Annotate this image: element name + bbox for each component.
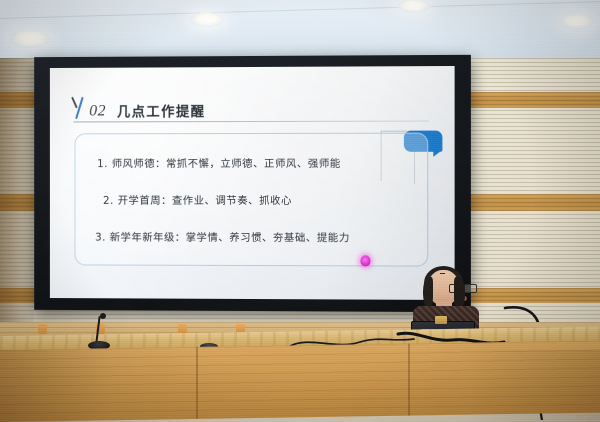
stage-riser-block	[38, 324, 47, 334]
slide-bullet-1: 1. 师风师德：常抓不懈，立师德、正师风、强师能	[75, 155, 449, 170]
slide-bullet-2: 2. 开学首周：查作业、调节奏、抓收心	[75, 192, 454, 207]
slide-bullet-3: 3. 新学年新年级：掌学情、养习惯、夯基础、提能力	[75, 229, 447, 245]
ceiling-seam	[0, 1, 600, 19]
slide-section-number: 02	[89, 103, 106, 119]
ceiling-downlight-icon	[560, 14, 594, 29]
slide-title-row: 02 几点工作提醒	[72, 92, 432, 119]
slash-accent-icon	[72, 96, 87, 120]
glasses-bridge	[440, 273, 445, 274]
projection-screen-surface: 02 几点工作提醒 1. 师风师德：常抓不懈，立师德、正师风、强师能 2. 开学…	[50, 66, 455, 300]
ceiling-downlight-icon	[10, 30, 50, 48]
slide-title-rule	[73, 121, 429, 123]
slide-content-box: 1. 师风师德：常抓不懈，立师德、正师风、强师能 2. 开学首周：查作业、调节奏…	[74, 133, 428, 267]
presenter-hair-left	[423, 277, 433, 308]
presentation-room-photo: 02 几点工作提醒 1. 师风师德：常抓不懈，立师德、正师风、强师能 2. 开学…	[0, 0, 600, 422]
name-badge	[435, 316, 447, 324]
ceiling-downlight-icon	[398, 0, 430, 13]
ceiling-downlight-icon	[190, 12, 224, 27]
presentation-slide: 02 几点工作提醒 1. 师风师德：常抓不懈，立师德、正师风、强师能 2. 开学…	[50, 66, 455, 300]
laser-pointer-dot-icon	[360, 255, 370, 266]
desk-shading	[0, 350, 600, 422]
projection-screen-frame: 02 几点工作提醒 1. 师风师德：常抓不懈，立师德、正师风、强师能 2. 开学…	[34, 55, 471, 312]
microphone-head-icon	[100, 313, 106, 319]
slide-title: 几点工作提醒	[117, 106, 206, 120]
